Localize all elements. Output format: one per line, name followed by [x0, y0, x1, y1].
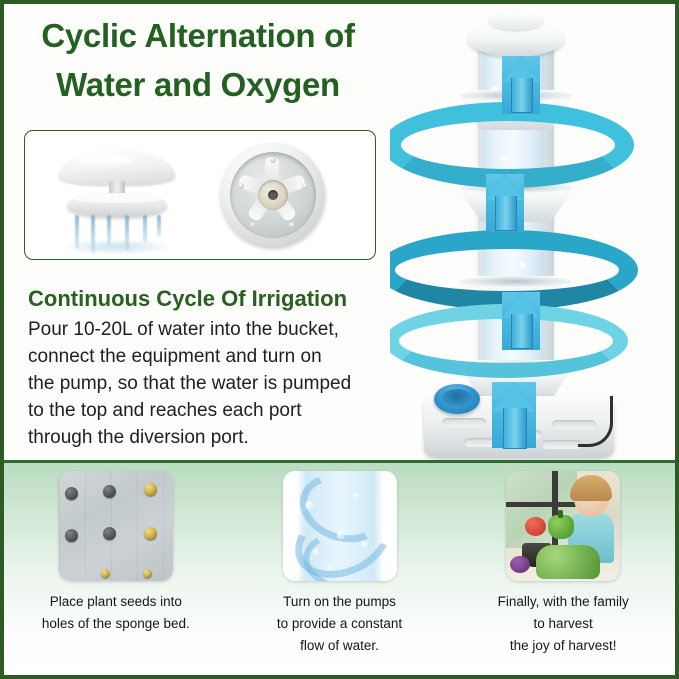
- title-line-1: Cyclic Alternation of: [12, 12, 384, 61]
- green-pepper: [548, 515, 574, 539]
- spray-jet: [157, 215, 161, 237]
- five-spoke-distributor-disc-icon: [221, 143, 329, 249]
- girl-hair: [570, 475, 612, 501]
- tower-cap-knob: [489, 12, 543, 30]
- base-slot: [542, 440, 582, 449]
- sponge-bed-with-seeds-photo: [59, 471, 173, 581]
- eggplant: [510, 556, 530, 573]
- page-title: Cyclic Alternation of Water and Oxygen: [12, 12, 384, 109]
- up-arrow-icon: [502, 292, 540, 350]
- bubble: [313, 549, 319, 555]
- inset-inner: [25, 131, 375, 259]
- caption-line: to provide a constant: [277, 613, 402, 635]
- section-subheading: Continuous Cycle Of Irrigation: [28, 286, 378, 312]
- seed: [101, 569, 110, 578]
- family-harvest-photo: [506, 471, 620, 581]
- water-diverter-cap-icon: [47, 141, 187, 251]
- bubble: [337, 531, 345, 539]
- seed: [65, 487, 78, 500]
- caption-line: Turn on the pumps: [277, 591, 402, 613]
- seed: [144, 483, 157, 496]
- bubble: [353, 493, 359, 499]
- spray-mist: [61, 241, 173, 255]
- leafy-greens: [536, 545, 600, 579]
- seed: [65, 529, 78, 542]
- step-card: Turn on the pumps to provide a constant …: [228, 463, 452, 675]
- caption-line: Place plant seeds into: [42, 591, 190, 613]
- step-caption: Turn on the pumps to provide a constant …: [277, 591, 402, 657]
- step-card: Place plant seeds into holes of the spon…: [4, 463, 228, 675]
- poster: Cyclic Alternation of Water and Oxygen: [0, 0, 679, 679]
- seed: [103, 527, 116, 540]
- caption-line: the joy of harvest!: [498, 635, 629, 657]
- up-arrow-icon: [502, 56, 540, 114]
- arrow-shaft: [511, 78, 533, 113]
- arrow-shaft: [503, 408, 527, 449]
- seed: [103, 485, 116, 498]
- title-line-2: Water and Oxygen: [12, 61, 384, 110]
- seed: [143, 569, 152, 578]
- arrow-shaft: [511, 314, 533, 349]
- disc-screw: [302, 183, 308, 189]
- product-parts-inset: [24, 130, 376, 260]
- bubble: [305, 501, 314, 510]
- step-caption: Place plant seeds into holes of the spon…: [42, 591, 190, 635]
- paragraph-line: Pour 10-20L of water into the bucket,: [28, 317, 376, 344]
- spray-jet: [143, 215, 147, 243]
- window-transom: [506, 502, 577, 507]
- paragraph-line: the pump, so that the water is pumped: [28, 371, 376, 398]
- caption-line: Finally, with the family: [498, 591, 629, 613]
- disc-screw: [250, 222, 256, 228]
- steps-row: Place plant seeds into holes of the spon…: [4, 463, 675, 675]
- caption-line: to harvest: [498, 613, 629, 635]
- up-arrow-icon: [492, 382, 536, 448]
- hydroponic-tower-illustration: [390, 4, 675, 460]
- disc-center-hole: [268, 190, 278, 200]
- cap-dome: [59, 151, 175, 185]
- disc-screw: [270, 157, 276, 163]
- bubble: [361, 541, 368, 548]
- bubble: [327, 565, 332, 570]
- disc-screw: [238, 183, 244, 189]
- step-caption: Finally, with the family to harvest the …: [498, 591, 629, 657]
- base-slot: [442, 418, 486, 427]
- paragraph-line: through the diversion port.: [28, 425, 376, 452]
- flowing-water-photo: [283, 471, 397, 581]
- left-column: Cyclic Alternation of Water and Oxygen: [4, 4, 390, 460]
- arrow-shaft: [495, 196, 517, 231]
- up-arrow-icon: [486, 174, 524, 232]
- cap-base: [67, 193, 167, 217]
- paragraph-line: to the top and reaches each port: [28, 398, 376, 425]
- step-card: Finally, with the family to harvest the …: [451, 463, 675, 675]
- bottom-section: Place plant seeds into holes of the spon…: [4, 463, 675, 675]
- caption-line: holes of the sponge bed.: [42, 613, 190, 635]
- disc-screw: [289, 222, 295, 228]
- blue-funnel-cup-interior: [442, 389, 472, 406]
- body-paragraph: Pour 10-20L of water into the bucket, co…: [28, 317, 376, 452]
- top-section: Cyclic Alternation of Water and Oxygen: [4, 4, 675, 460]
- paragraph-line: connect the equipment and turn on: [28, 344, 376, 371]
- kitchen-scene: [506, 471, 620, 581]
- caption-line: flow of water.: [277, 635, 402, 657]
- seed: [144, 527, 157, 540]
